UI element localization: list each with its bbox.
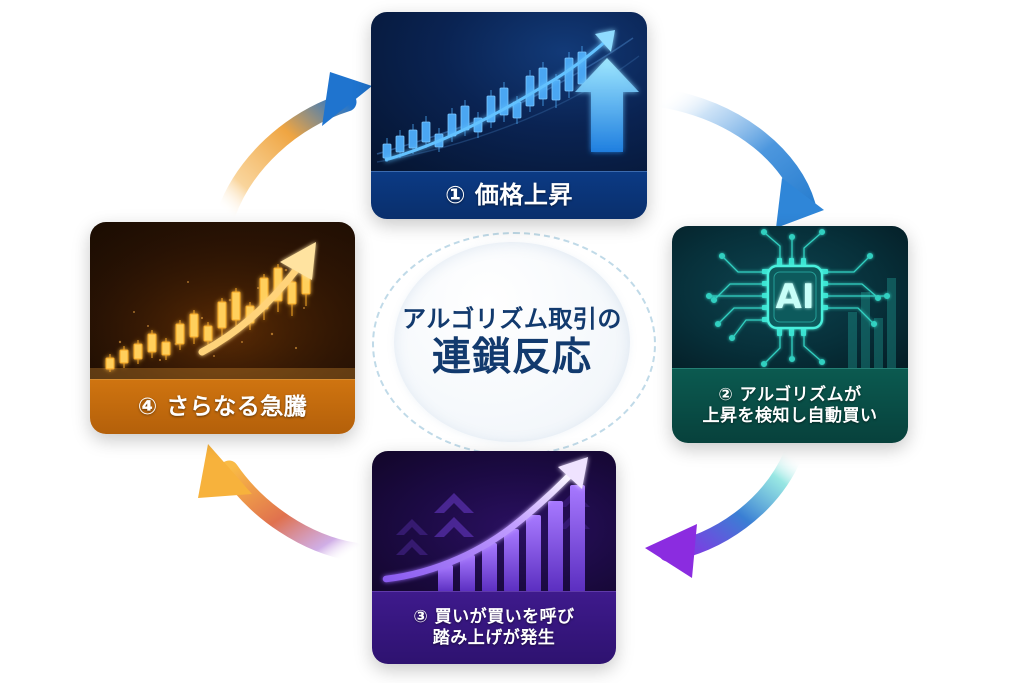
center-subtitle: アルゴリズム取引の: [402, 304, 622, 334]
arrow-card4-to-card1: [226, 72, 372, 214]
arrow-card1-to-card2: [663, 98, 824, 228]
arrow-card2-to-card3: [645, 455, 793, 578]
infographic-canvas: アルゴリズム取引の 連鎖反応: [0, 0, 1024, 683]
ai-chip-label: AI: [776, 277, 815, 317]
card1-label-line1: ① 価格上昇: [445, 181, 573, 209]
step-card-3[interactable]: ③ 買いが買いを呼び 踏み上げが発生: [372, 451, 616, 664]
card1-artwork: [371, 12, 647, 172]
center-title-group: アルゴリズム取引の 連鎖反応: [372, 232, 652, 452]
card3-label-line2: 踏み上げが発生: [413, 628, 574, 649]
step-card-4[interactable]: ④ さらなる急騰: [90, 222, 355, 434]
step-card-2[interactable]: AI ② アルゴリズムが 上昇を検知し自動買い: [672, 226, 908, 443]
card3-label: ③ 買いが買いを呼び 踏み上げが発生: [372, 591, 616, 664]
step-card-1[interactable]: ① 価格上昇: [371, 12, 647, 219]
card3-artwork: [372, 451, 616, 592]
card1-label: ① 価格上昇: [371, 171, 647, 219]
card4-label-line1: ④ さらなる急騰: [138, 394, 307, 420]
card2-label-line1: ② アルゴリズムが: [718, 385, 861, 405]
card4-artwork: [90, 222, 355, 380]
center-title: 連鎖反応: [402, 336, 622, 380]
arrow-card3-to-card4: [198, 444, 354, 552]
card2-artwork: AI: [672, 226, 908, 369]
card2-label: ② アルゴリズムが 上昇を検知し自動買い: [672, 368, 908, 443]
card2-label-line2: 上昇を検知し自動買い: [703, 406, 878, 427]
card4-label: ④ さらなる急騰: [90, 379, 355, 434]
card3-label-line1: ③ 買いが買いを呼び: [413, 607, 574, 627]
